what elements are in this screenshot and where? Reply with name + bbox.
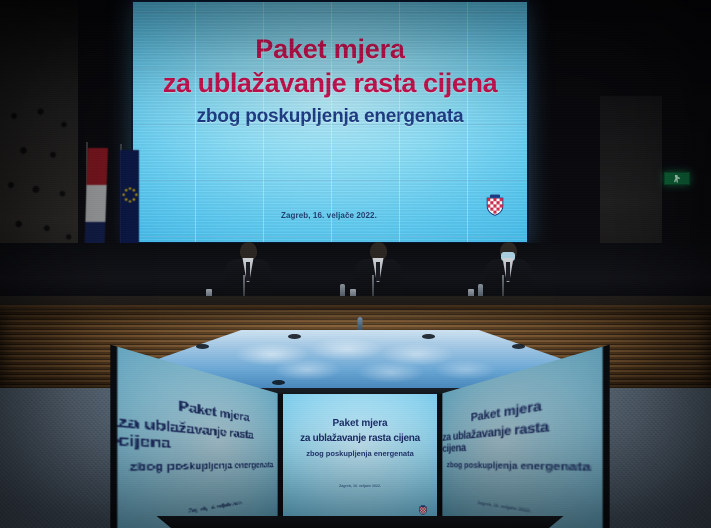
torso [355, 259, 401, 301]
necktie [506, 262, 510, 281]
podium-microphone [358, 317, 363, 332]
necktie [246, 262, 250, 281]
press-conference-scene: Paket mjera za ublažavanje rasta cijena … [0, 0, 711, 528]
slide-date-location: Zagreb, 16. veljače 2022. [281, 211, 377, 220]
torso [485, 259, 531, 301]
torso [225, 259, 271, 301]
eu-flag [120, 150, 139, 258]
panel-title-line-2: za ublažavanje rasta cijena [442, 413, 602, 455]
slide-subtitle: zbog poskupljenja energenata [197, 106, 464, 128]
speaker-podium: Paket mjera za ublažavanje rasta cijena … [140, 330, 580, 528]
podium-panels: Paket mjera za ublažavanje rasta cijena … [156, 394, 564, 528]
podium-cable-port-front [272, 380, 285, 385]
podium-cable-port-right [512, 344, 525, 349]
exit-running-man-icon [674, 175, 680, 183]
podium-base [148, 516, 572, 528]
necktie [376, 262, 380, 281]
presentation-slide: Paket mjera za ublažavanje rasta cijena … [133, 2, 527, 242]
panel-date-location: Zagreb, 16. veljače 2022. [478, 501, 532, 515]
led-video-wall: Paket mjera za ublažavanje rasta cijena … [131, 0, 529, 244]
podium-panel-center: Paket mjera za ublažavanje rasta cijena … [280, 394, 440, 528]
slide-title-line-2: za ublažavanje rasta cijena [163, 69, 497, 98]
panel-subtitle: zbog poskupljenja energenata [129, 459, 273, 474]
official-left [225, 242, 271, 301]
panel-date-location: Zagreb, 16. veljače 2022. [189, 501, 243, 515]
panel-title-line-2: za ublažavanje rasta cijena [300, 433, 420, 444]
panel-title-line-1: Paket mjera [332, 418, 387, 429]
podium-cable-port-midr [422, 334, 435, 339]
panel-title-line-2: za ublažavanje rasta cijena [117, 413, 277, 455]
led-screen: Paket mjera za ublažavanje rasta cijena … [133, 2, 527, 242]
panel-title-line-1: Paket mjera [178, 399, 249, 425]
podium-cable-port-midl [288, 334, 301, 339]
panel-subtitle: zbog poskupljenja energenata [447, 459, 591, 474]
panel-date-location: Zagreb, 16. veljače 2022. [339, 484, 381, 488]
official-center [355, 242, 401, 301]
podium-cable-port-left [196, 344, 209, 349]
panel-subtitle: zbog poskupljenja energenata [306, 449, 414, 458]
slide-title-line-1: Paket mjera [255, 35, 404, 64]
croatian-coat-of-arms-icon [486, 194, 504, 221]
official-right [485, 242, 531, 301]
panel-desk [0, 243, 711, 301]
exit-sign [664, 172, 690, 185]
